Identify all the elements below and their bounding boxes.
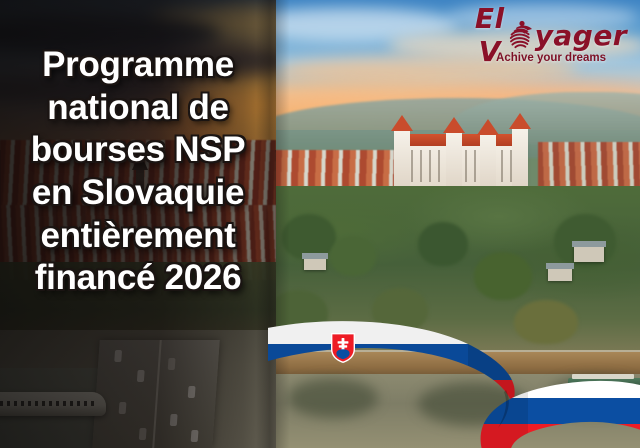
headline-line-3: bourses NSP <box>0 129 276 172</box>
tree <box>418 222 468 266</box>
globe-swirl-traveler-icon <box>503 18 537 52</box>
logo-text-right: yager <box>535 19 628 52</box>
tree <box>474 252 532 300</box>
castle-tower <box>446 132 462 192</box>
headline-line-4: en Slovaquie <box>0 172 276 215</box>
hillside-building <box>304 258 326 270</box>
hillside-building <box>574 246 604 262</box>
headline-line-5: entièrement <box>0 215 276 258</box>
headline-line-2: national de <box>0 87 276 130</box>
poster-root: Programme national de bourses NSP en Slo… <box>0 0 640 448</box>
town-rooftops <box>538 142 640 188</box>
tree <box>330 236 376 276</box>
headline-line-1: Programme <box>0 44 276 87</box>
headline: Programme national de bourses NSP en Slo… <box>0 44 276 300</box>
slovak-coat-of-arms <box>330 332 356 364</box>
castle-tower <box>480 134 496 192</box>
slovak-flag-ribbon <box>268 318 640 448</box>
headline-line-6: financé 2026 <box>0 257 276 300</box>
logo-wordmark: El V yager <box>476 14 626 56</box>
castle-tower <box>512 128 528 192</box>
bratislava-castle <box>388 120 534 192</box>
brand-logo[interactable]: El V yager <box>476 14 626 78</box>
castle-tower <box>394 130 410 192</box>
logo-tagline: Achive your dreams <box>476 52 626 64</box>
hillside-building <box>548 268 572 281</box>
